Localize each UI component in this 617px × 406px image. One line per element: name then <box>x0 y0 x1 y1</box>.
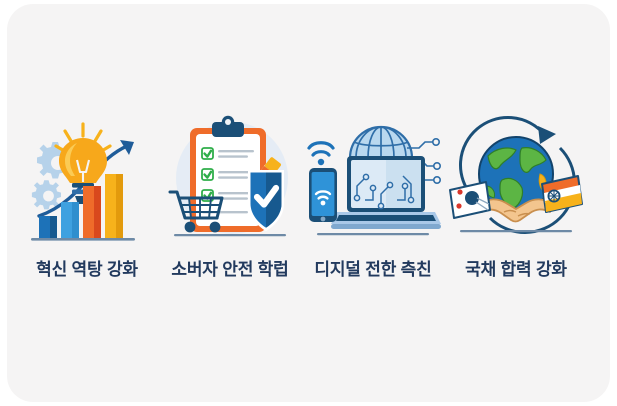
infographic-page: 혁신 역탕 강화 <box>0 0 617 406</box>
panel-consumer-safety[interactable]: 소버자 안전 학럽 <box>159 88 302 278</box>
panel-label-innovation-capacity: 혁신 역탕 강화 <box>36 261 138 278</box>
panel-international-cooperation[interactable]: 국채 합력 강화 <box>445 88 588 278</box>
panel-innovation-capacity[interactable]: 혁신 역탕 강화 <box>16 88 159 278</box>
lightbulb-gears-growth-bar-chart-icon <box>17 112 157 252</box>
panel-digital-transition[interactable]: 디지덜 전한 측친 <box>302 88 445 278</box>
earth-globe-handshake-flags-icon <box>446 112 586 252</box>
panel-label-international-cooperation: 국채 합력 강화 <box>465 261 567 278</box>
panel-label-consumer-safety: 소버자 안전 학럽 <box>171 261 288 278</box>
laptop-globe-smartphone-wifi-circuit-icon <box>303 112 443 252</box>
panel-label-digital-transition: 디지덜 전한 측친 <box>314 261 431 278</box>
clipboard-checklist-shopping-cart-shield-icon <box>160 112 300 252</box>
panel-row: 혁신 역탕 강화 <box>0 88 603 278</box>
